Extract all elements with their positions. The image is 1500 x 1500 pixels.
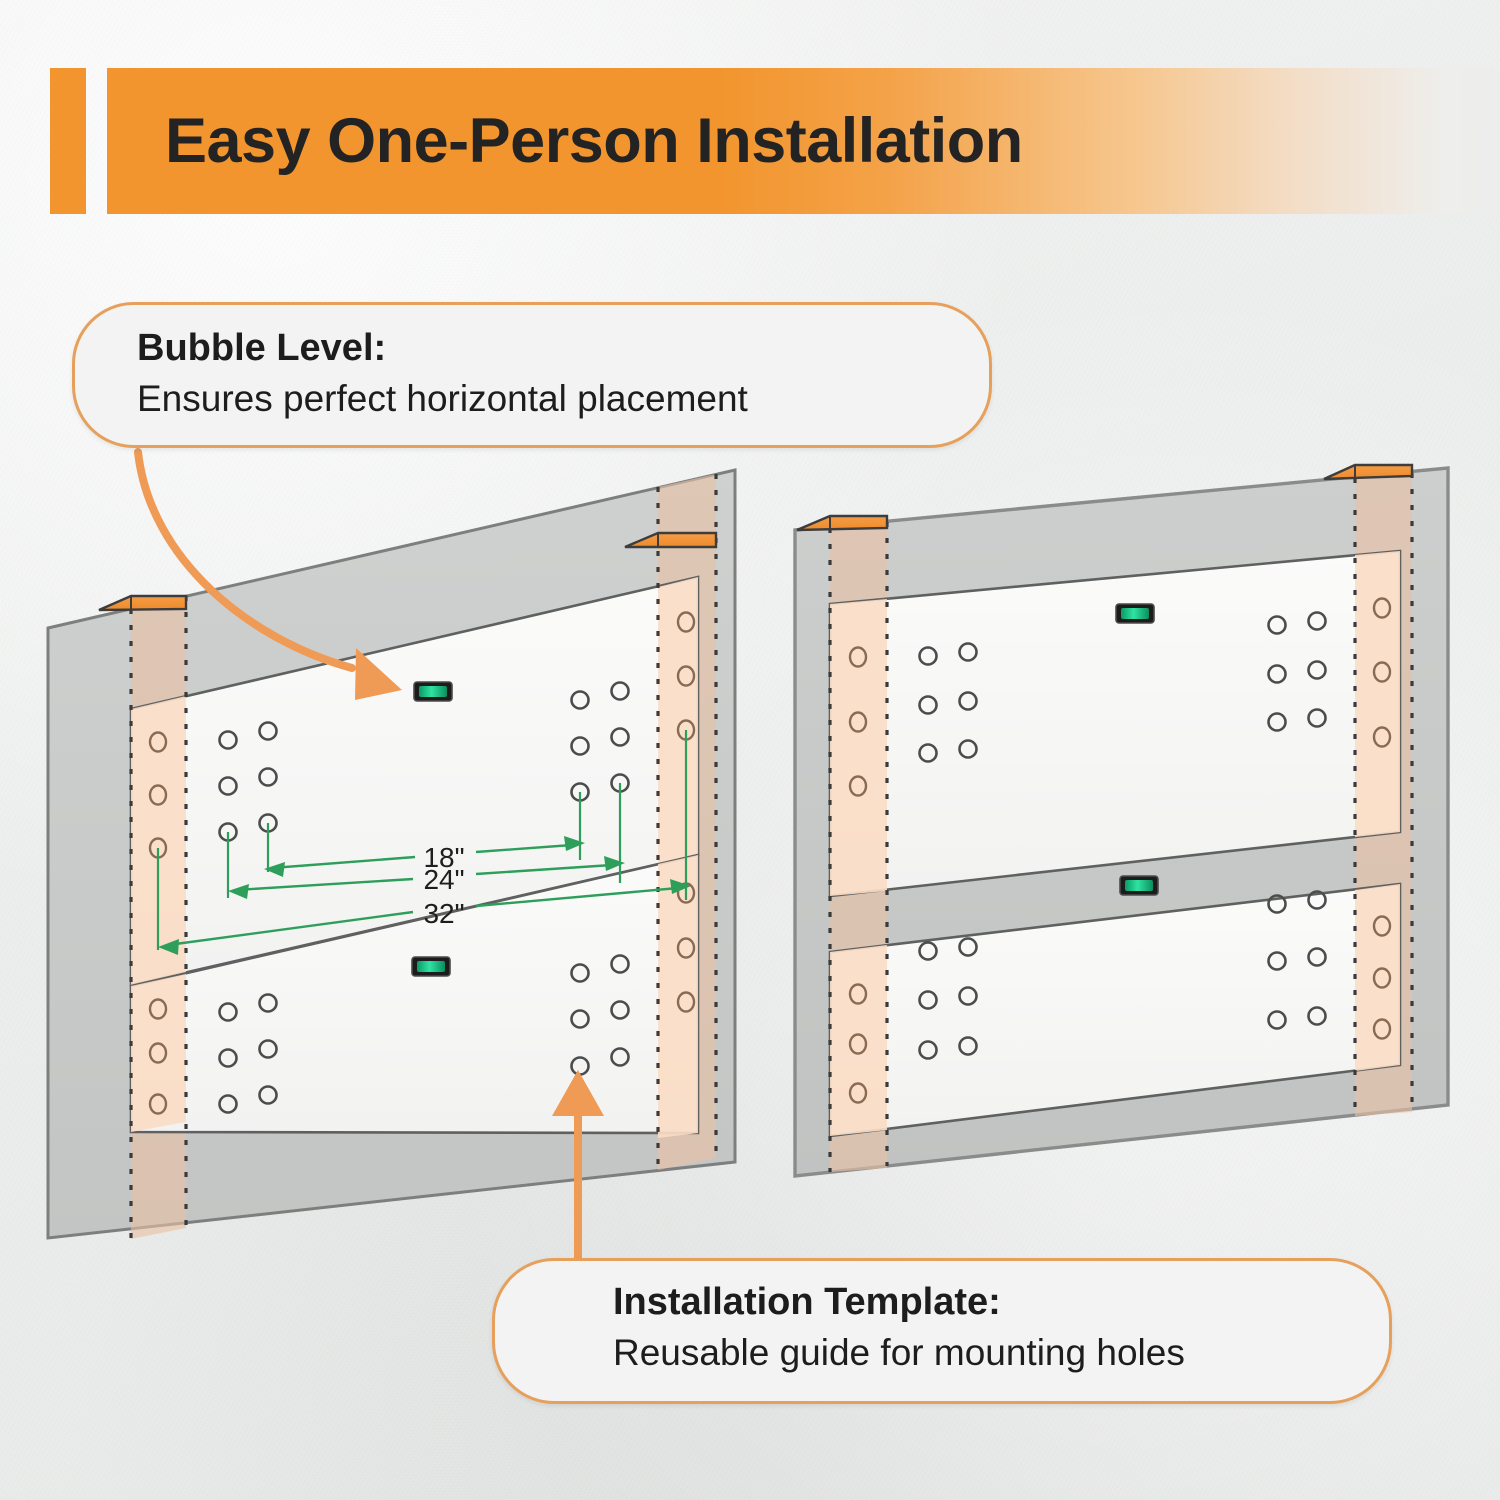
- callout-bubble-level: Bubble Level: Ensures perfect horizontal…: [72, 302, 992, 448]
- bubble-level-icon: [412, 957, 450, 976]
- stud-cap-marker: [99, 596, 186, 610]
- stud-cap-marker: [1324, 465, 1412, 479]
- right-wall-panel: [795, 465, 1448, 1176]
- callout-installation-template-title: Installation Template:: [613, 1281, 1389, 1325]
- bubble-level-icon: [1120, 876, 1158, 895]
- stud-cap-marker: [797, 516, 887, 530]
- dimension-label-24: 24": [423, 864, 464, 895]
- bubble-level-icon: [1116, 604, 1154, 623]
- callout-bubble-level-subtitle: Ensures perfect horizontal placement: [137, 377, 989, 421]
- callout-installation-template-subtitle: Reusable guide for mounting holes: [613, 1331, 1389, 1375]
- bubble-level-icon: [414, 682, 452, 701]
- dimension-label-32: 32": [423, 898, 464, 929]
- left-wall-panel: 18" 24" 32": [48, 470, 735, 1239]
- callout-bubble-level-title: Bubble Level:: [137, 327, 989, 371]
- callout-installation-template: Installation Template: Reusable guide fo…: [492, 1258, 1392, 1404]
- dimension-labels: 18" 24" 32": [423, 842, 464, 929]
